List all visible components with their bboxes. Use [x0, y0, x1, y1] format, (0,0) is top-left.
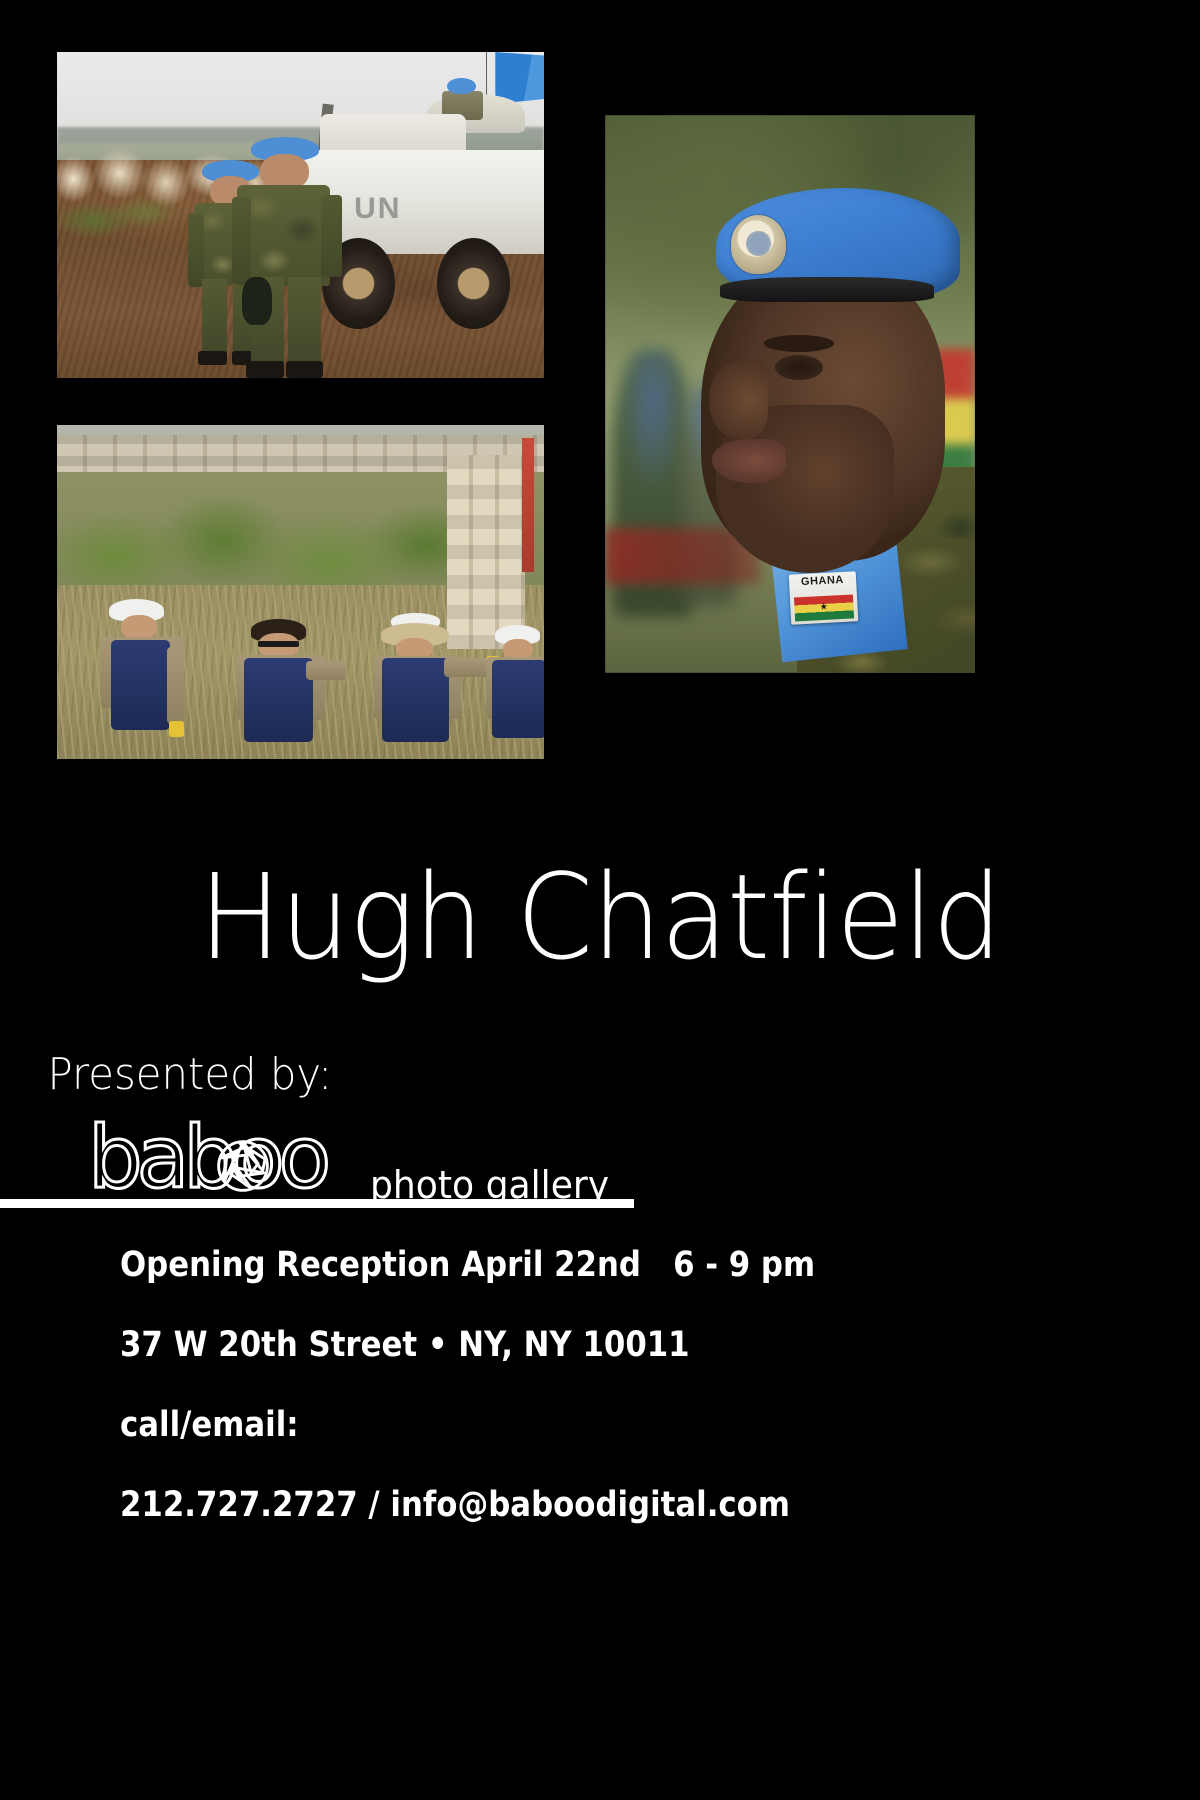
shoulder-patch: GHANA ★	[789, 571, 858, 625]
camouflage-torso	[237, 185, 331, 286]
boot-left	[246, 361, 283, 378]
beret-band	[720, 277, 935, 302]
red-post	[522, 438, 534, 572]
arm-left	[188, 213, 204, 287]
camera-aperture-icon	[214, 1137, 272, 1195]
grass-patch	[57, 189, 203, 241]
event-address-line: 37 W 20th Street • NY, NY 10011	[120, 1328, 912, 1363]
gallery-logo-wordmark: b a b o o	[88, 1115, 325, 1201]
boot-right	[286, 361, 323, 378]
event-contact-label: call/email:	[120, 1408, 912, 1443]
logo-divider-rule	[0, 1199, 634, 1208]
photo-un-patrol: UN	[57, 52, 544, 378]
patch-country-label: GHANA	[789, 573, 857, 598]
deminer-4	[486, 625, 544, 759]
logo-letter-o2: o	[279, 1115, 326, 1201]
event-details: Opening Reception April 22nd 6 - 9 pm 37…	[120, 1248, 1020, 1568]
arm-outstretched	[306, 661, 346, 681]
safety-glasses	[258, 641, 298, 647]
leg-left	[202, 279, 227, 357]
blue-body-armor	[111, 640, 171, 730]
eye	[775, 355, 823, 380]
poster-root: { "poster": { "background_color": "#0000…	[0, 0, 1200, 1800]
logo-letter-a: a	[137, 1115, 184, 1201]
black-star-icon: ★	[820, 602, 829, 611]
yellow-glove	[169, 721, 184, 737]
deminer-3	[374, 615, 462, 759]
vehicle-un-marking: UN	[354, 192, 401, 226]
event-reception-line: Opening Reception April 22nd 6 - 9 pm	[120, 1248, 912, 1283]
photo-peacekeeper-portrait: GHANA ★	[605, 115, 975, 673]
arm-right	[167, 647, 184, 724]
page-title: Hugh Chatfield	[42, 858, 1158, 976]
soldier-front	[232, 137, 349, 378]
boot-left	[198, 351, 227, 365]
arm-outstretched	[444, 658, 490, 677]
leg-right	[288, 277, 321, 369]
blue-body-armor	[244, 658, 312, 742]
nose	[709, 361, 768, 439]
arm-right	[321, 195, 342, 277]
gunner-blue-helmet	[447, 78, 476, 94]
event-contact-line[interactable]: 212.727.2727 / info@baboodigital.com	[120, 1488, 912, 1523]
logo-letter-b1: b	[88, 1115, 137, 1201]
blue-body-armor	[492, 660, 544, 737]
deminer-2	[237, 619, 325, 759]
presented-by-label: Presented by:	[47, 1049, 332, 1100]
carried-helmet	[242, 277, 272, 325]
deminer-1	[101, 599, 184, 759]
blue-body-armor	[382, 658, 449, 741]
un-beret-badge	[731, 215, 787, 274]
photo-deminers	[57, 425, 544, 759]
vehicle-wheel-rear	[437, 238, 510, 329]
lips	[712, 439, 786, 484]
arm-left	[232, 197, 251, 284]
